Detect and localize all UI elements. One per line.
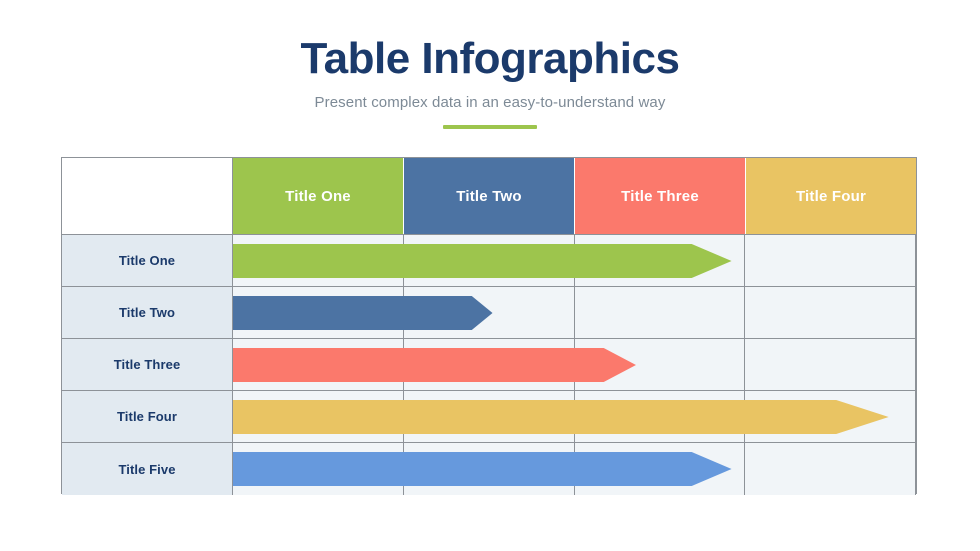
table-row[interactable]: Title Three bbox=[62, 339, 916, 391]
column-header-1[interactable]: Title One bbox=[233, 158, 404, 234]
slide-canvas: Table Infographics Present complex data … bbox=[0, 0, 980, 551]
table-row[interactable]: Title Two bbox=[62, 287, 916, 339]
table-row[interactable]: Title One bbox=[62, 235, 916, 287]
column-header-4[interactable]: Title Four bbox=[746, 158, 916, 234]
row-cells bbox=[233, 235, 916, 286]
row-label-text: Title Four bbox=[117, 409, 177, 424]
data-cell[interactable] bbox=[575, 339, 746, 390]
row-cells bbox=[233, 443, 916, 495]
column-header-2[interactable]: Title Two bbox=[404, 158, 575, 234]
column-header-label: Title Two bbox=[456, 188, 521, 205]
row-cells bbox=[233, 339, 916, 390]
row-label-text: Title Five bbox=[118, 462, 175, 477]
data-cell[interactable] bbox=[745, 339, 916, 390]
table-row[interactable]: Title Five bbox=[62, 443, 916, 495]
row-cells bbox=[233, 287, 916, 338]
data-cell[interactable] bbox=[233, 235, 404, 286]
column-header-label: Title Four bbox=[796, 188, 866, 205]
data-cell[interactable] bbox=[233, 339, 404, 390]
data-cell[interactable] bbox=[575, 391, 746, 442]
page-title: Table Infographics bbox=[0, 36, 980, 82]
data-cell[interactable] bbox=[575, 287, 746, 338]
data-cell[interactable] bbox=[745, 443, 916, 495]
infographic-table: Title One Title Two Title Three Title Fo… bbox=[61, 157, 917, 494]
page-subtitle: Present complex data in an easy-to-under… bbox=[0, 94, 980, 111]
table-row[interactable]: Title Four bbox=[62, 391, 916, 443]
row-label-text: Title One bbox=[119, 253, 175, 268]
data-cell[interactable] bbox=[233, 443, 404, 495]
column-header-label: Title Three bbox=[621, 188, 699, 205]
table-body: Title One Title Two bbox=[62, 235, 916, 495]
data-cell[interactable] bbox=[575, 235, 746, 286]
table-header-row: Title One Title Two Title Three Title Fo… bbox=[62, 158, 916, 235]
data-cell[interactable] bbox=[233, 287, 404, 338]
data-cell[interactable] bbox=[404, 235, 575, 286]
data-cell[interactable] bbox=[745, 391, 916, 442]
data-cell[interactable] bbox=[745, 287, 916, 338]
data-cell[interactable] bbox=[404, 443, 575, 495]
data-cell[interactable] bbox=[575, 443, 746, 495]
data-cell[interactable] bbox=[233, 391, 404, 442]
slide-header: Table Infographics Present complex data … bbox=[0, 36, 980, 129]
row-label-2: Title Two bbox=[62, 287, 233, 338]
data-cell[interactable] bbox=[745, 235, 916, 286]
row-label-text: Title Three bbox=[114, 357, 181, 372]
table-corner-cell bbox=[62, 158, 233, 234]
data-cell[interactable] bbox=[404, 339, 575, 390]
data-cell[interactable] bbox=[404, 391, 575, 442]
row-label-3: Title Three bbox=[62, 339, 233, 390]
column-header-label: Title One bbox=[285, 188, 351, 205]
row-label-1: Title One bbox=[62, 235, 233, 286]
row-label-5: Title Five bbox=[62, 443, 233, 495]
row-label-text: Title Two bbox=[119, 305, 175, 320]
title-underline-accent bbox=[443, 125, 537, 129]
row-label-4: Title Four bbox=[62, 391, 233, 442]
data-cell[interactable] bbox=[404, 287, 575, 338]
row-cells bbox=[233, 391, 916, 442]
column-header-3[interactable]: Title Three bbox=[575, 158, 746, 234]
